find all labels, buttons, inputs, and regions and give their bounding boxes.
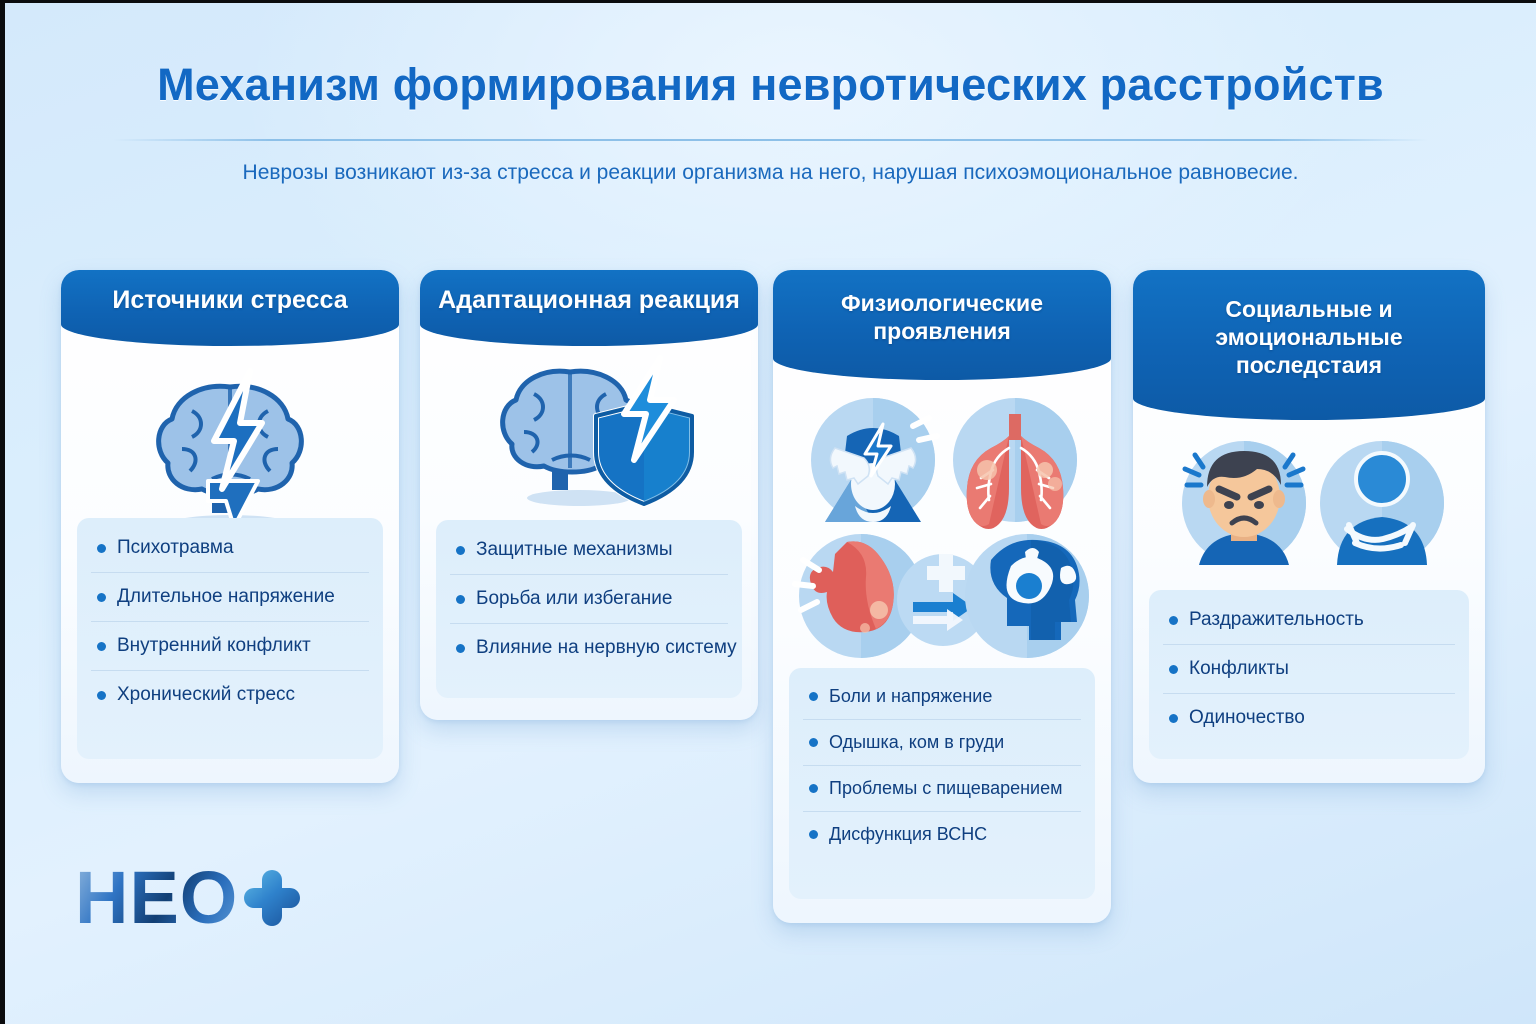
card-title-physiological-manifestations: Физиологические проявления (787, 289, 1097, 345)
list-item-label: Дисфункция ВСНС (829, 824, 987, 845)
bullet-dot-icon (809, 692, 818, 701)
list-item-label: Длительное напряжение (117, 586, 335, 608)
card-title-social-emotional-consequences: Социальные и эмоциональные последстаия (1147, 295, 1471, 379)
bullet-dot-icon (456, 546, 465, 555)
physiological-icon-grid (773, 388, 1111, 668)
list-item-label: Защитные механизмы (476, 539, 673, 561)
bullet-dot-icon (809, 830, 818, 839)
list-item-label: Боли и напряжение (829, 686, 992, 707)
list-item-label: Хронический стресс (117, 684, 295, 706)
list-item[interactable]: Раздражительность (1163, 596, 1455, 645)
list-item-label: Одышка, ком в груди (829, 732, 1004, 753)
list-item[interactable]: Длительное напряжение (91, 573, 369, 622)
infographic-canvas: Механизм формирования невротических расс… (0, 0, 1536, 1024)
page-subtitle: Неврозы возникают из-за стресса и реакци… (5, 161, 1536, 185)
bullet-dot-icon (1169, 616, 1178, 625)
list-item-label: Конфликты (1189, 658, 1289, 680)
list-item[interactable]: Конфликты (1163, 645, 1455, 694)
list-item[interactable]: Психотравма (91, 524, 369, 573)
list-adaptive-reaction: Защитные механизмы Борьба или избегание … (436, 520, 742, 698)
list-physiological-manifestations: Боли и напряжение Одышка, ком в груди Пр… (789, 668, 1095, 899)
brain-shield-icon (474, 356, 704, 516)
bullet-dot-icon (456, 595, 465, 604)
list-item[interactable]: Защитные механизмы (450, 526, 728, 575)
list-item-label: Проблемы с пищеварением (829, 778, 1062, 799)
brand-logo-text: НЕО (75, 861, 238, 935)
headache-person-icon (811, 398, 937, 522)
brain-lightning-icon (130, 361, 330, 541)
list-item[interactable]: Дисфункция ВСНС (803, 812, 1081, 857)
list-item[interactable]: Борьба или избегание (450, 575, 728, 624)
list-item[interactable]: Внутренний конфликт (91, 622, 369, 671)
bullet-dot-icon (97, 593, 106, 602)
bullet-dot-icon (809, 738, 818, 747)
lonely-person-icon (1320, 441, 1444, 565)
list-item-label: Одиночество (1189, 707, 1305, 729)
list-item-label: Раздражительность (1189, 609, 1364, 631)
card-header-social-emotional-consequences: Социальные и эмоциональные последстаия (1133, 270, 1485, 420)
bullet-dot-icon (1169, 714, 1178, 723)
nervous-system-head-icon (965, 534, 1089, 658)
list-item[interactable]: Одышка, ком в груди (803, 720, 1081, 766)
list-sources-of-stress: Психотравма Длительное напряжение Внутре… (77, 518, 383, 759)
bullet-dot-icon (809, 784, 818, 793)
list-item[interactable]: Боли и напряжение (803, 674, 1081, 720)
list-item-label: Внутренний конфликт (117, 635, 311, 657)
card-header-adaptive-reaction: Адаптационная реакция (420, 270, 758, 346)
icon-grid-physiological (773, 388, 1111, 668)
plus-icon (244, 870, 300, 926)
card-adaptive-reaction: Адаптационная реакция (420, 270, 758, 720)
card-physiological-manifestations: Физиологические проявления (773, 270, 1111, 923)
social-icon-grid (1133, 425, 1485, 585)
card-header-physiological-manifestations: Физиологические проявления (773, 270, 1111, 380)
lungs-icon (953, 398, 1077, 529)
page-title: Механизм формирования невротических расс… (5, 59, 1536, 111)
bullet-dot-icon (1169, 665, 1178, 674)
list-social-emotional-consequences: Раздражительность Конфликты Одиночество (1149, 590, 1469, 759)
list-item-label: Борьба или избегание (476, 588, 673, 610)
card-title-sources-of-stress: Источники стресса (112, 285, 347, 316)
list-item-label: Влияние на нервную систему (476, 637, 737, 659)
card-header-sources-of-stress: Источники стресса (61, 270, 399, 346)
icon-brain-shield-wrap (420, 356, 758, 516)
card-title-adaptive-reaction: Адаптационная реакция (438, 285, 740, 316)
list-item[interactable]: Одиночество (1163, 694, 1455, 742)
list-item[interactable]: Влияние на нервную систему (450, 624, 728, 672)
brand-logo: НЕО (75, 861, 300, 935)
bullet-dot-icon (456, 644, 465, 653)
bullet-dot-icon (97, 544, 106, 553)
icon-grid-social (1133, 425, 1485, 585)
bullet-dot-icon (97, 642, 106, 651)
list-item[interactable]: Проблемы с пищеварением (803, 766, 1081, 812)
card-sources-of-stress: Источники стресса (61, 270, 399, 783)
bullet-dot-icon (97, 691, 106, 700)
list-item[interactable]: Хронический стресс (91, 671, 369, 719)
list-item-label: Психотравма (117, 537, 234, 559)
card-social-emotional-consequences: Социальные и эмоциональные последстаия (1133, 270, 1485, 783)
title-divider (113, 139, 1428, 141)
angry-face-icon (1182, 441, 1306, 565)
